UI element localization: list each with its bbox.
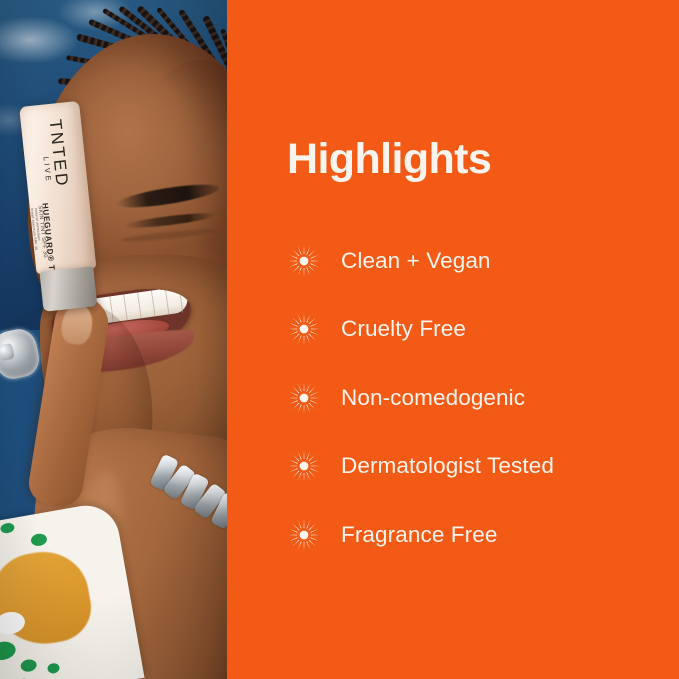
- highlight-item: Non-comedogenic: [287, 363, 657, 432]
- sunburst-icon: [287, 244, 321, 278]
- sunburst-icon: [287, 449, 321, 483]
- shirt-print-motif: [30, 533, 48, 548]
- shirt-print-motif: [0, 522, 15, 534]
- product-lifestyle-photo: TNTED LIVE HUEGUARD® TINT SKIN TINT SPF …: [0, 0, 227, 679]
- highlight-label: Dermatologist Tested: [341, 453, 554, 479]
- highlight-label: Non-comedogenic: [341, 385, 525, 411]
- sunburst-icon: [287, 518, 321, 552]
- highlights-panel: Highlights Clean + VeganCruelty FreeNon-…: [227, 0, 679, 679]
- tube-cap: [39, 266, 97, 311]
- highlight-label: Clean + Vegan: [341, 248, 491, 274]
- product-highlights-banner: TNTED LIVE HUEGUARD® TINT SKIN TINT SPF …: [0, 0, 679, 679]
- highlight-item: Dermatologist Tested: [287, 432, 657, 501]
- highlight-label: Cruelty Free: [341, 316, 466, 342]
- shirt-gold-print: [0, 545, 96, 652]
- sunburst-icon: [287, 381, 321, 415]
- highlight-item: Fragrance Free: [287, 500, 657, 569]
- shirt-print-motif: [0, 640, 17, 662]
- sunburst-icon: [287, 312, 321, 346]
- highlight-item: Clean + Vegan: [287, 226, 657, 295]
- highlights-list: Clean + VeganCruelty FreeNon-comedogenic…: [287, 226, 657, 569]
- page-title: Highlights: [287, 136, 657, 182]
- shirt-print-motif: [47, 662, 61, 674]
- shirt-print-motif: [20, 658, 38, 673]
- highlight-label: Fragrance Free: [341, 522, 497, 548]
- highlight-item: Cruelty Free: [287, 295, 657, 364]
